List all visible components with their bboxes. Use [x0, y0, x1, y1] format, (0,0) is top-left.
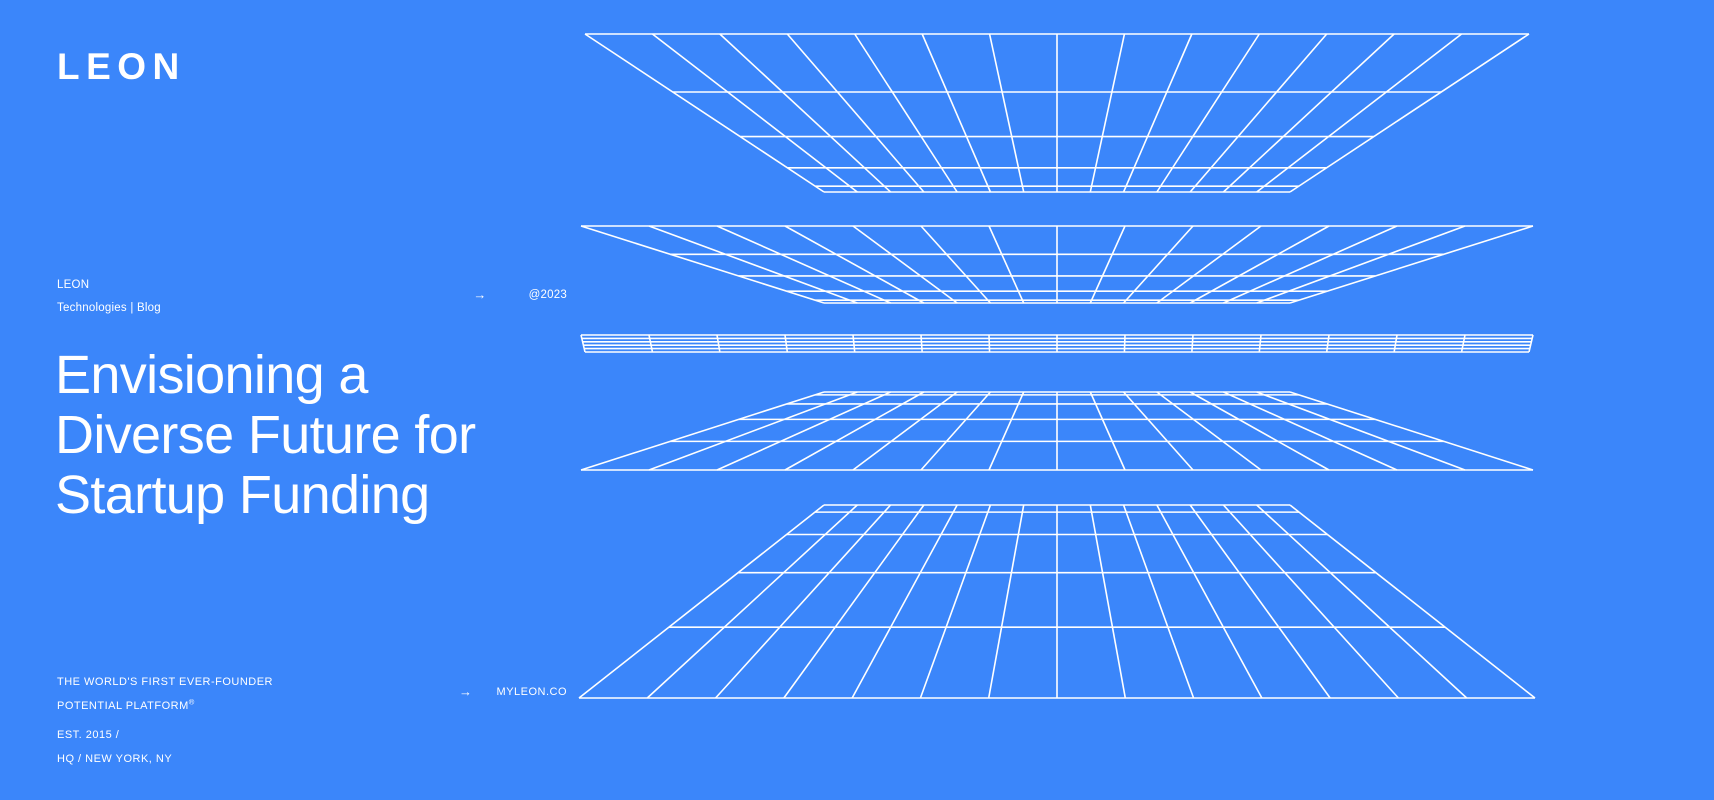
headline-line-2: Diverse Future for: [55, 405, 475, 465]
hero-canvas: LEON LEON Technologies | Blog → @2023 En…: [0, 0, 1714, 800]
leon-logo[interactable]: LEON: [57, 48, 186, 85]
company-facts-block: EST. 2015 / HQ / NEW YORK, NY: [57, 723, 172, 771]
grid-plane-1: [585, 34, 1529, 192]
page-title: Envisioning a Diverse Future for Startup…: [55, 345, 595, 526]
top-meta-right: → @2023: [473, 288, 567, 301]
copyright-year: @2023: [529, 289, 567, 301]
registered-trademark-icon: ®: [189, 698, 195, 707]
hero-content-column: LEON LEON Technologies | Blog → @2023 En…: [0, 0, 620, 800]
grid-plane-5: [579, 505, 1535, 698]
site-link-group[interactable]: → MYLEON.CO: [459, 685, 567, 698]
headline-line-3: Startup Funding: [55, 465, 430, 525]
site-link[interactable]: MYLEON.CO: [497, 686, 567, 698]
grid-plane-4: [581, 392, 1533, 470]
headquarters-location: HQ / NEW YORK, NY: [57, 747, 172, 771]
tagline-block: THE WORLD'S FIRST EVER-FOUNDER POTENTIAL…: [57, 670, 273, 718]
tagline-line-2-text: POTENTIAL PLATFORM: [57, 700, 189, 712]
tagline-line-2: POTENTIAL PLATFORM®: [57, 694, 273, 718]
publisher-block: LEON Technologies | Blog: [57, 274, 161, 321]
grid-plane-2: [581, 226, 1533, 303]
tagline-line-1: THE WORLD'S FIRST EVER-FOUNDER: [57, 670, 273, 694]
publisher-section: Technologies | Blog: [57, 297, 161, 320]
headline-line-1: Envisioning a: [55, 345, 368, 405]
bottom-meta-row: THE WORLD'S FIRST EVER-FOUNDER POTENTIAL…: [57, 670, 567, 718]
publisher-name: LEON: [57, 274, 161, 297]
arrow-right-icon: →: [459, 685, 473, 698]
grid-plane-3: [581, 335, 1533, 352]
established-year: EST. 2015 /: [57, 723, 172, 747]
top-meta-row: LEON Technologies | Blog → @2023: [57, 274, 567, 321]
arrow-right-icon: →: [473, 288, 486, 301]
